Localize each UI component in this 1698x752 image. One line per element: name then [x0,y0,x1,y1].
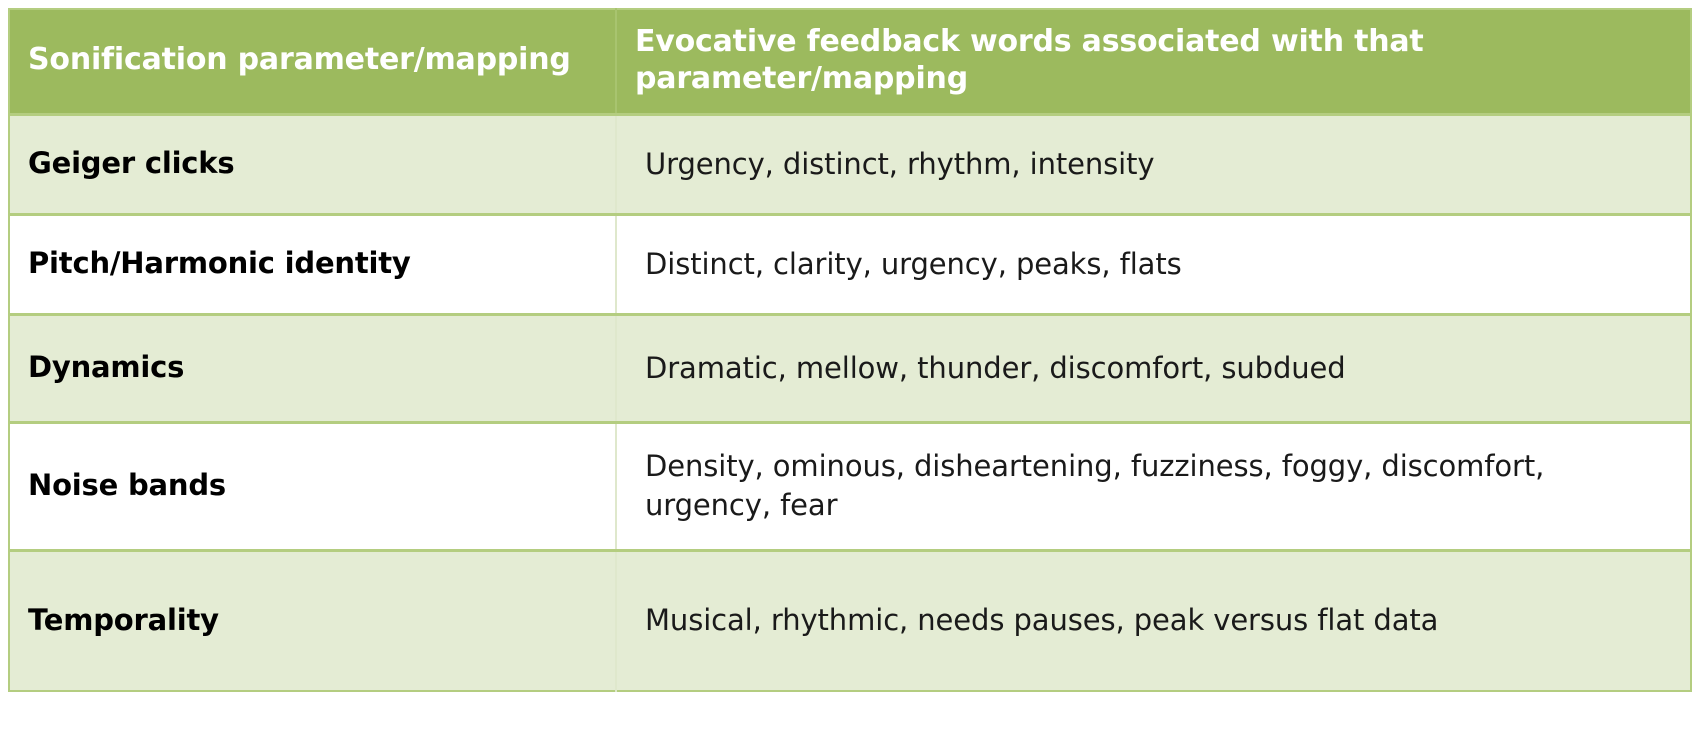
cell-parameter: Geiger clicks [9,115,616,215]
table-body: Geiger clicks Urgency, distinct, rhythm,… [9,115,1691,691]
cell-parameter: Dynamics [9,315,616,423]
cell-parameter: Temporality [9,551,616,691]
table-row: Dynamics Dramatic, mellow, thunder, disc… [9,315,1691,423]
table-row: Pitch/Harmonic identity Distinct, clarit… [9,215,1691,315]
cell-words: Urgency, distinct, rhythm, intensity [616,115,1691,215]
cell-parameter: Pitch/Harmonic identity [9,215,616,315]
cell-words: Dramatic, mellow, thunder, discomfort, s… [616,315,1691,423]
cell-words: Distinct, clarity, urgency, peaks, flats [616,215,1691,315]
table-row: Geiger clicks Urgency, distinct, rhythm,… [9,115,1691,215]
column-header-parameter: Sonification parameter/mapping [9,9,616,115]
cell-parameter: Noise bands [9,423,616,551]
table-header-row: Sonification parameter/mapping Evocative… [9,9,1691,115]
cell-words: Musical, rhythmic, needs pauses, peak ve… [616,551,1691,691]
table-header: Sonification parameter/mapping Evocative… [9,9,1691,115]
table-container: Sonification parameter/mapping Evocative… [8,8,1690,692]
cell-words: Density, ominous, disheartening, fuzzine… [616,423,1691,551]
sonification-parameter-table: Sonification parameter/mapping Evocative… [8,8,1692,692]
table-row: Noise bands Density, ominous, dishearten… [9,423,1691,551]
table-row: Temporality Musical, rhythmic, needs pau… [9,551,1691,691]
column-header-words: Evocative feedback words associated with… [616,9,1691,115]
